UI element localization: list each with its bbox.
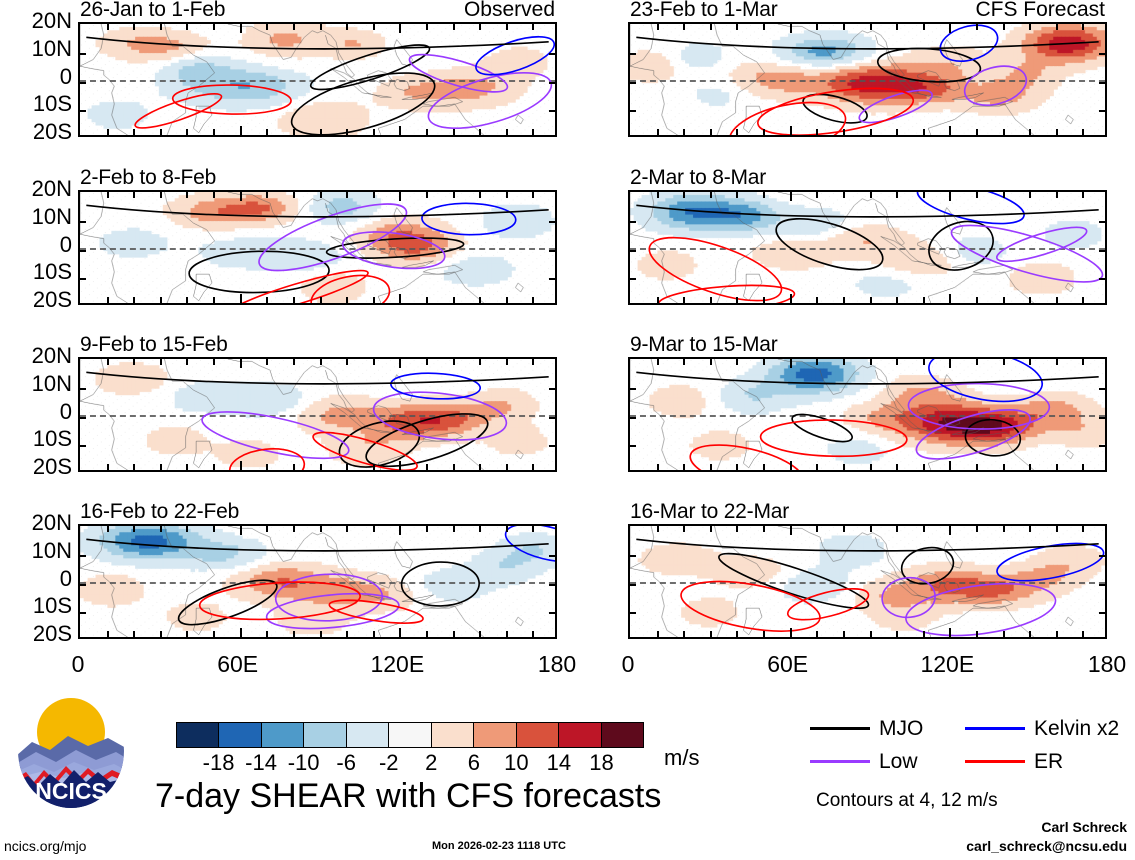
legend-line-swatch	[810, 727, 870, 730]
axis-tick	[80, 470, 86, 472]
y-tick-label: 20S	[33, 121, 72, 143]
axis-tick	[399, 126, 401, 135]
axis-tick	[549, 584, 555, 586]
axis-tick	[1099, 278, 1105, 280]
axis-tick	[630, 303, 636, 305]
axis-tick	[736, 631, 738, 637]
axis-tick	[870, 526, 872, 532]
axis-tick	[976, 464, 978, 470]
axis-tick	[710, 464, 712, 470]
axis-tick	[976, 129, 978, 135]
colorbar-swatch	[346, 723, 388, 747]
axis-tick	[1029, 192, 1031, 198]
axis-tick	[373, 129, 375, 135]
axis-tick	[549, 53, 555, 55]
axis-tick	[630, 82, 636, 84]
legend-item-kelvin-x2: Kelvin x2	[965, 717, 1120, 741]
axis-tick	[949, 461, 951, 470]
axis-tick	[266, 631, 268, 637]
axis-tick	[1099, 555, 1105, 557]
axis-tick	[453, 526, 455, 532]
axis-tick	[923, 631, 925, 637]
axis-tick	[373, 526, 375, 532]
wave-contours	[80, 192, 555, 303]
colorbar-swatch	[218, 723, 260, 747]
axis-tick	[479, 526, 481, 532]
axis-tick	[240, 24, 242, 33]
axis-tick	[1056, 192, 1058, 198]
axis-tick	[293, 359, 295, 365]
axis-tick	[133, 464, 135, 470]
legend-line-swatch	[810, 760, 870, 763]
axis-tick	[186, 24, 188, 30]
axis-tick	[80, 584, 86, 586]
axis-tick	[1003, 297, 1005, 303]
colorbar-tick-label: -2	[379, 750, 399, 776]
axis-tick	[1099, 250, 1105, 252]
axis-tick	[426, 297, 428, 303]
map-plot-area[interactable]	[628, 190, 1107, 305]
x-tick-label: 180	[538, 651, 576, 678]
axis-tick	[426, 464, 428, 470]
axis-tick	[976, 297, 978, 303]
axis-tick	[976, 192, 978, 198]
panel-2: 23-Feb to 1-MarCFS Forecast	[628, 22, 1107, 137]
axis-tick	[107, 631, 109, 637]
axis-tick	[630, 135, 636, 137]
axis-tick	[630, 445, 636, 447]
axis-tick	[683, 129, 685, 135]
axis-tick	[549, 221, 555, 223]
axis-tick	[1056, 359, 1058, 365]
axis-tick	[266, 24, 268, 30]
axis-tick	[630, 278, 636, 280]
axis-tick	[896, 464, 898, 470]
axis-tick	[240, 461, 242, 470]
axis-tick	[213, 297, 215, 303]
axis-tick	[1082, 297, 1084, 303]
axis-tick	[426, 192, 428, 198]
axis-tick	[896, 526, 898, 532]
axis-tick	[1099, 470, 1105, 472]
axis-tick	[479, 297, 481, 303]
axis-tick	[80, 445, 86, 447]
axis-tick	[506, 297, 508, 303]
axis-tick	[399, 294, 401, 303]
axis-tick	[346, 631, 348, 637]
panel-6: 9-Mar to 15-Mar	[628, 357, 1107, 472]
axis-tick	[1099, 637, 1105, 639]
colorbar-tick-labels: -18-14-10-6-226101418	[176, 750, 644, 774]
axis-tick	[1056, 464, 1058, 470]
axis-tick	[506, 24, 508, 30]
axis-tick	[736, 464, 738, 470]
colorbar-tick-label: 18	[589, 750, 613, 776]
axis-tick	[549, 637, 555, 639]
axis-tick	[630, 53, 636, 55]
axis-tick	[80, 110, 86, 112]
axis-tick	[426, 359, 428, 365]
axis-tick	[186, 297, 188, 303]
axis-tick	[80, 417, 86, 419]
y-tick-label: 10S	[33, 428, 72, 450]
axis-tick	[1099, 445, 1105, 447]
axis-tick	[453, 24, 455, 30]
axis-tick	[549, 278, 555, 280]
axis-tick	[453, 359, 455, 365]
axis-tick	[293, 129, 295, 135]
axis-tick	[816, 129, 818, 135]
map-plot-area[interactable]	[628, 524, 1107, 639]
axis-tick	[976, 359, 978, 365]
legend-label: ER	[1034, 750, 1063, 774]
axis-tick	[1082, 526, 1084, 532]
axis-tick	[213, 359, 215, 365]
colorbar-swatch	[558, 723, 600, 747]
axis-tick	[870, 297, 872, 303]
x-tick-label: 60E	[767, 651, 808, 678]
axis-tick	[160, 192, 162, 198]
axis-tick	[790, 294, 792, 303]
axis-tick	[80, 303, 86, 305]
axis-tick	[426, 526, 428, 532]
axis-tick	[506, 192, 508, 198]
axis-tick	[320, 24, 322, 30]
axis-tick	[1029, 631, 1031, 637]
axis-tick	[710, 192, 712, 198]
axis-tick	[790, 526, 792, 535]
panel-5: 9-Feb to 15-Feb20N10N010S20S	[78, 357, 557, 472]
axis-tick	[532, 24, 534, 30]
axis-tick	[843, 129, 845, 135]
axis-tick	[186, 129, 188, 135]
axis-tick	[107, 24, 109, 30]
axis-tick	[453, 297, 455, 303]
axis-tick	[479, 192, 481, 198]
axis-tick	[710, 129, 712, 135]
axis-tick	[657, 297, 659, 303]
panel-4: 2-Mar to 8-Mar	[628, 190, 1107, 305]
column-header-observed: Observed	[464, 0, 555, 22]
axis-tick	[710, 359, 712, 365]
axis-tick	[816, 192, 818, 198]
axis-tick	[843, 192, 845, 198]
axis-tick	[80, 612, 86, 614]
axis-tick	[479, 359, 481, 365]
axis-tick	[630, 110, 636, 112]
axis-tick	[630, 584, 636, 586]
y-tick-label: 10N	[32, 540, 72, 562]
axis-tick	[160, 24, 162, 30]
axis-tick	[790, 192, 792, 201]
axis-tick	[657, 631, 659, 637]
axis-tick	[320, 464, 322, 470]
axis-tick	[532, 631, 534, 637]
wave-contours	[630, 359, 1105, 470]
axis-tick	[160, 297, 162, 303]
axis-tick	[293, 464, 295, 470]
axis-tick	[133, 359, 135, 365]
axis-tick	[630, 417, 636, 419]
axis-tick	[320, 631, 322, 637]
axis-tick	[346, 24, 348, 30]
wave-contours	[80, 24, 555, 135]
axis-tick	[426, 129, 428, 135]
axis-tick	[763, 631, 765, 637]
axis-tick	[293, 526, 295, 532]
axis-tick	[1082, 631, 1084, 637]
axis-tick	[1003, 631, 1005, 637]
x-axis-labels: 060E120E180	[78, 651, 557, 677]
wave-contours	[80, 526, 555, 637]
axis-tick	[532, 526, 534, 532]
axis-tick	[870, 129, 872, 135]
axis-tick	[710, 631, 712, 637]
axis-tick	[843, 297, 845, 303]
axis-tick	[399, 526, 401, 535]
panel-7: 16-Feb to 22-Feb20N10N010S20S	[78, 524, 557, 639]
axis-tick	[896, 297, 898, 303]
axis-tick	[843, 24, 845, 30]
axis-tick	[1003, 192, 1005, 198]
map-plot-area[interactable]	[78, 357, 557, 472]
axis-tick	[240, 126, 242, 135]
axis-tick	[949, 628, 951, 637]
axis-tick	[683, 297, 685, 303]
x-tick-label: 0	[72, 651, 85, 678]
axis-tick	[373, 192, 375, 198]
axis-tick	[1029, 129, 1031, 135]
author-name: Carl Schreck	[966, 818, 1127, 837]
axis-tick	[736, 129, 738, 135]
axis-tick	[630, 470, 636, 472]
map-plot-area[interactable]	[628, 22, 1107, 137]
axis-tick	[549, 82, 555, 84]
axis-tick	[453, 464, 455, 470]
y-tick-label: 20N	[32, 10, 72, 32]
axis-tick	[683, 359, 685, 365]
axis-tick	[80, 555, 86, 557]
axis-tick	[160, 129, 162, 135]
axis-tick	[630, 388, 636, 390]
y-tick-label: 20N	[32, 178, 72, 200]
axis-tick	[1099, 53, 1105, 55]
axis-tick	[1082, 129, 1084, 135]
axis-tick	[1082, 192, 1084, 198]
axis-tick	[373, 359, 375, 365]
axis-tick	[763, 464, 765, 470]
contours-note: Contours at 4, 12 m/s	[816, 790, 998, 812]
axis-tick	[549, 110, 555, 112]
axis-tick	[949, 126, 951, 135]
axis-tick	[133, 526, 135, 532]
axis-tick	[293, 631, 295, 637]
axis-tick	[320, 192, 322, 198]
axis-tick	[790, 24, 792, 33]
axis-tick	[549, 417, 555, 419]
colorbar-tick-label: -10	[288, 750, 320, 776]
axis-tick	[506, 359, 508, 365]
colorbar-tick-label: -6	[336, 750, 356, 776]
axis-tick	[320, 526, 322, 532]
axis-tick	[763, 129, 765, 135]
axis-tick	[976, 526, 978, 532]
wave-contours	[630, 24, 1105, 135]
axis-tick	[346, 297, 348, 303]
axis-tick	[107, 129, 109, 135]
footer-url[interactable]: ncics.org/mjo	[4, 838, 86, 854]
axis-tick	[1029, 297, 1031, 303]
axis-tick	[399, 359, 401, 368]
axis-tick	[320, 297, 322, 303]
map-plot-area[interactable]	[78, 190, 557, 305]
legend-label: Low	[879, 750, 918, 774]
y-tick-label: 20S	[33, 289, 72, 311]
axis-tick	[133, 192, 135, 198]
panel-title: 2-Feb to 8-Feb	[80, 166, 216, 190]
axis-tick	[293, 24, 295, 30]
axis-tick	[107, 359, 109, 365]
axis-tick	[107, 526, 109, 532]
axis-tick	[133, 297, 135, 303]
main-title: 7-day SHEAR with CFS forecasts	[155, 777, 661, 816]
axis-tick	[1099, 82, 1105, 84]
axis-tick	[949, 294, 951, 303]
axis-tick	[923, 192, 925, 198]
axis-tick	[816, 526, 818, 532]
axis-tick	[373, 24, 375, 30]
axis-tick	[736, 359, 738, 365]
x-axis-labels: 060E120E180	[628, 651, 1107, 677]
axis-tick	[763, 297, 765, 303]
axis-tick	[683, 631, 685, 637]
map-plot-area[interactable]	[78, 524, 557, 639]
axis-tick	[870, 464, 872, 470]
axis-tick	[896, 129, 898, 135]
map-plot-area[interactable]	[628, 357, 1107, 472]
colorbar-tick-label: 2	[425, 750, 437, 776]
axis-tick	[532, 464, 534, 470]
y-tick-label: 20S	[33, 456, 72, 478]
colorbar-swatch	[431, 723, 473, 747]
axis-tick	[923, 464, 925, 470]
colorbar-swatch	[261, 723, 303, 747]
axis-tick	[870, 192, 872, 198]
axis-tick	[816, 631, 818, 637]
axis-tick	[399, 461, 401, 470]
axis-tick	[1099, 612, 1105, 614]
axis-tick	[133, 24, 135, 30]
axis-tick	[923, 24, 925, 30]
axis-tick	[320, 129, 322, 135]
axis-tick	[266, 464, 268, 470]
x-tick-label: 0	[622, 651, 635, 678]
axis-tick	[532, 359, 534, 365]
author-email[interactable]: carl_schreck@ncsu.edu	[966, 837, 1127, 856]
colorbar	[176, 722, 644, 748]
axis-tick	[657, 192, 659, 198]
axis-tick	[532, 129, 534, 135]
axis-tick	[213, 192, 215, 198]
axis-tick	[763, 24, 765, 30]
axis-tick	[1003, 359, 1005, 365]
axis-tick	[1082, 24, 1084, 30]
axis-tick	[976, 631, 978, 637]
axis-tick	[80, 250, 86, 252]
ncics-logo: NCICS	[16, 692, 126, 810]
y-axis-labels: 20N10N010S20S	[8, 346, 72, 483]
axis-tick	[816, 24, 818, 30]
x-tick-label: 180	[1088, 651, 1126, 678]
axis-tick	[816, 359, 818, 365]
axis-tick	[683, 526, 685, 532]
logo-text: NCICS	[35, 778, 107, 804]
axis-tick	[1056, 297, 1058, 303]
axis-tick	[479, 129, 481, 135]
colorbar-swatch	[473, 723, 515, 747]
axis-tick	[896, 192, 898, 198]
axis-tick	[506, 464, 508, 470]
map-plot-area[interactable]	[78, 22, 557, 137]
axis-tick	[1003, 129, 1005, 135]
axis-tick	[923, 129, 925, 135]
axis-tick	[240, 192, 242, 201]
panel-title: 9-Feb to 15-Feb	[80, 333, 228, 357]
legend-item-low: Low	[810, 750, 965, 774]
y-tick-label: 10S	[33, 261, 72, 283]
colorbar-tick-label: 14	[547, 750, 571, 776]
axis-tick	[657, 359, 659, 365]
axis-tick	[790, 359, 792, 368]
axis-tick	[816, 464, 818, 470]
axis-tick	[683, 192, 685, 198]
axis-tick	[426, 631, 428, 637]
axis-tick	[373, 464, 375, 470]
axis-tick	[293, 192, 295, 198]
legend-label: Kelvin x2	[1034, 717, 1119, 741]
axis-tick	[657, 526, 659, 532]
axis-tick	[426, 24, 428, 30]
axis-tick	[107, 192, 109, 198]
axis-tick	[870, 631, 872, 637]
panel-title: 16-Mar to 22-Mar	[630, 500, 789, 524]
axis-tick	[107, 464, 109, 470]
axis-tick	[736, 297, 738, 303]
axis-tick	[479, 24, 481, 30]
axis-tick	[186, 631, 188, 637]
legend-item-mjo: MJO	[810, 717, 965, 741]
axis-tick	[1056, 631, 1058, 637]
axis-tick	[1099, 417, 1105, 419]
axis-tick	[1099, 388, 1105, 390]
axis-tick	[1099, 110, 1105, 112]
axis-tick	[266, 297, 268, 303]
axis-tick	[186, 359, 188, 365]
axis-tick	[923, 297, 925, 303]
axis-tick	[373, 297, 375, 303]
column-header-cfs-forecast: CFS Forecast	[975, 0, 1105, 22]
panel-title: 26-Jan to 1-Feb	[80, 0, 225, 22]
panel-title: 23-Feb to 1-Mar	[630, 0, 778, 22]
y-axis-labels: 20N10N010S20S	[8, 11, 72, 148]
axis-tick	[133, 129, 135, 135]
colorbar-tick-label: -18	[203, 750, 235, 776]
axis-tick	[790, 126, 792, 135]
axis-tick	[266, 129, 268, 135]
axis-tick	[949, 192, 951, 201]
axis-tick	[549, 135, 555, 137]
axis-tick	[1099, 303, 1105, 305]
